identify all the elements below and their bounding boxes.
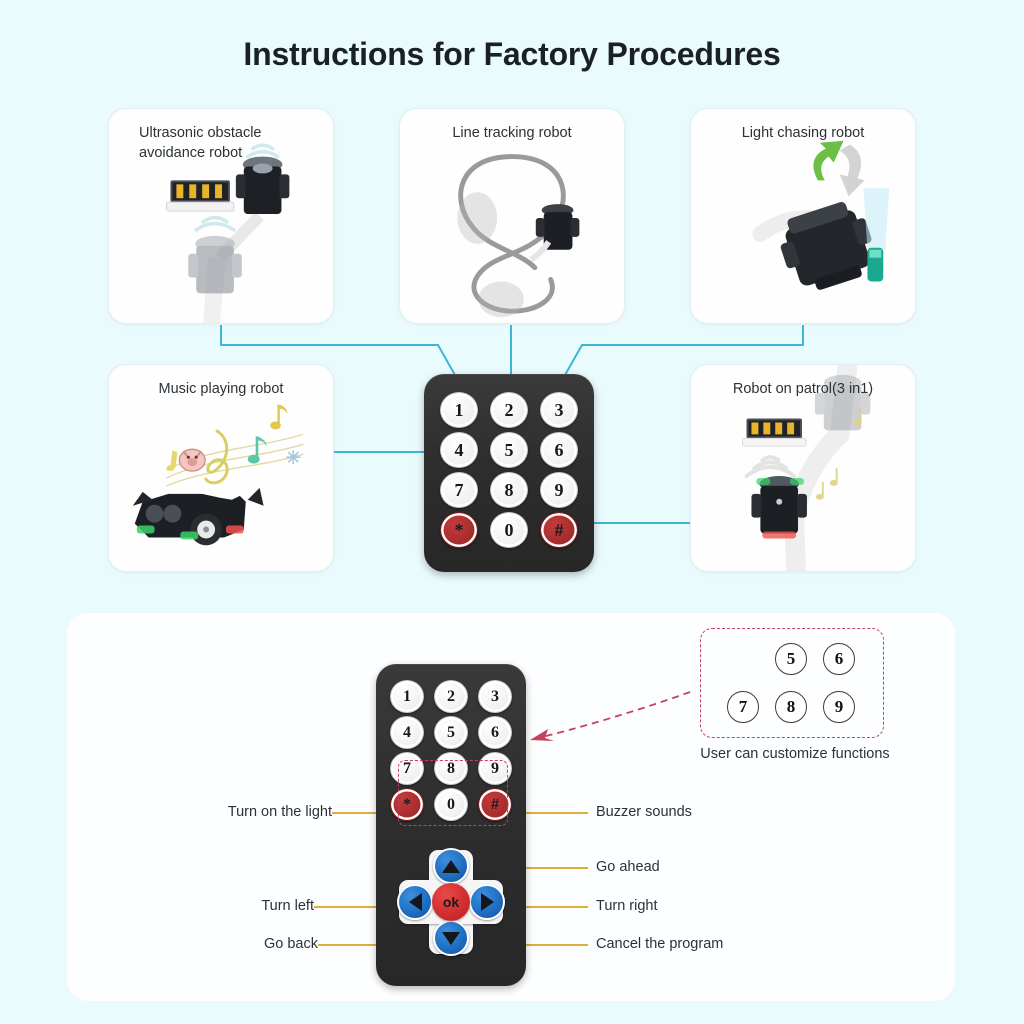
mode-card-line-tracking[interactable]: Line tracking robot [399,108,625,324]
remote-top-key-star[interactable]: * [440,512,478,548]
dpad-up-button[interactable] [433,848,469,884]
remote-bottom-keypad: 1 2 3 4 5 6 7 8 9 * 0 # [390,680,512,828]
remote-top-key-5[interactable]: 5 [490,432,528,468]
mode-card-ultrasonic[interactable]: Ultrasonic obstacle avoidance robot [108,108,334,324]
annotation-turn-right: Turn right [596,898,658,914]
mode-card-label-music: Music playing robot [109,379,333,399]
dpad-left-button[interactable] [397,884,433,920]
remote-top-key-0[interactable]: 0 [490,512,528,548]
remote-bottom-key-star[interactable]: * [390,788,424,821]
remote-bottom-key-4[interactable]: 4 [390,716,424,749]
callout-key-5: 5 [775,643,807,675]
down-arrow-icon [442,932,460,945]
annotation-go-ahead: Go ahead [596,859,660,875]
remote-top-key-8[interactable]: 8 [490,472,528,508]
remote-top-keypad: 1 2 3 4 5 6 7 8 9 * 0 # [440,392,578,554]
remote-top-key-4[interactable]: 4 [440,432,478,468]
remote-bottom-key-5[interactable]: 5 [434,716,468,749]
dpad-ok-button[interactable]: ok [432,883,470,921]
dpad-right-button[interactable] [469,884,505,920]
remote-top-key-6[interactable]: 6 [540,432,578,468]
callout-key-7: 7 [727,691,759,723]
callout-key-6: 6 [823,643,855,675]
remote-bottom-key-1[interactable]: 1 [390,680,424,713]
remote-bottom-key-8[interactable]: 8 [434,752,468,785]
mode-card-label-ultrasonic: Ultrasonic obstacle avoidance robot [109,123,333,163]
mode-card-patrol[interactable]: Robot on patrol(3 in1) [690,364,916,572]
remote-control-bottom[interactable]: 1 2 3 4 5 6 7 8 9 * 0 # [376,664,526,986]
remote-top-key-1[interactable]: 1 [440,392,478,428]
annotation-turn-on-the-light: Turn on the light [132,804,332,820]
remote-top-key-9[interactable]: 9 [540,472,578,508]
mode-card-label-line-tracking: Line tracking robot [400,123,624,143]
remote-bottom-key-2[interactable]: 2 [434,680,468,713]
remote-top-key-2[interactable]: 2 [490,392,528,428]
mode-card-label-patrol: Robot on patrol(3 in1) [691,379,915,399]
remote-bottom-key-6[interactable]: 6 [478,716,512,749]
annotation-cancel-the-program: Cancel the program [596,936,723,952]
remote-top-key-hash[interactable]: # [540,512,578,548]
mode-card-music[interactable]: Music playing robot [108,364,334,572]
remote-bottom-key-9[interactable]: 9 [478,752,512,785]
mode-card-label-light-chasing: Light chasing robot [691,123,915,143]
remote-top-key-7[interactable]: 7 [440,472,478,508]
annotation-buzzer-sounds: Buzzer sounds [596,804,692,820]
right-arrow-icon [481,893,494,911]
dpad-down-button[interactable] [433,920,469,956]
callout-key-8: 8 [775,691,807,723]
remote-top-key-3[interactable]: 3 [540,392,578,428]
annotation-go-back: Go back [158,936,318,952]
remote-bottom-key-hash[interactable]: # [478,788,512,821]
remote-control-top[interactable]: 1 2 3 4 5 6 7 8 9 * 0 # [424,374,594,572]
remote-bottom-key-3[interactable]: 3 [478,680,512,713]
page-root: Instructions for Factory Procedures [0,0,1024,1024]
left-arrow-icon [409,893,422,911]
callout-key-9: 9 [823,691,855,723]
direction-pad: ok [399,850,503,954]
customize-callout-box: 5 6 7 8 9 [700,628,884,738]
mode-card-light-chasing[interactable]: Light chasing robot [690,108,916,324]
customize-callout-caption: User can customize functions [660,746,930,762]
annotation-turn-left: Turn left [154,898,314,914]
up-arrow-icon [442,860,460,873]
remote-bottom-key-0[interactable]: 0 [434,788,468,821]
remote-bottom-key-7[interactable]: 7 [390,752,424,785]
